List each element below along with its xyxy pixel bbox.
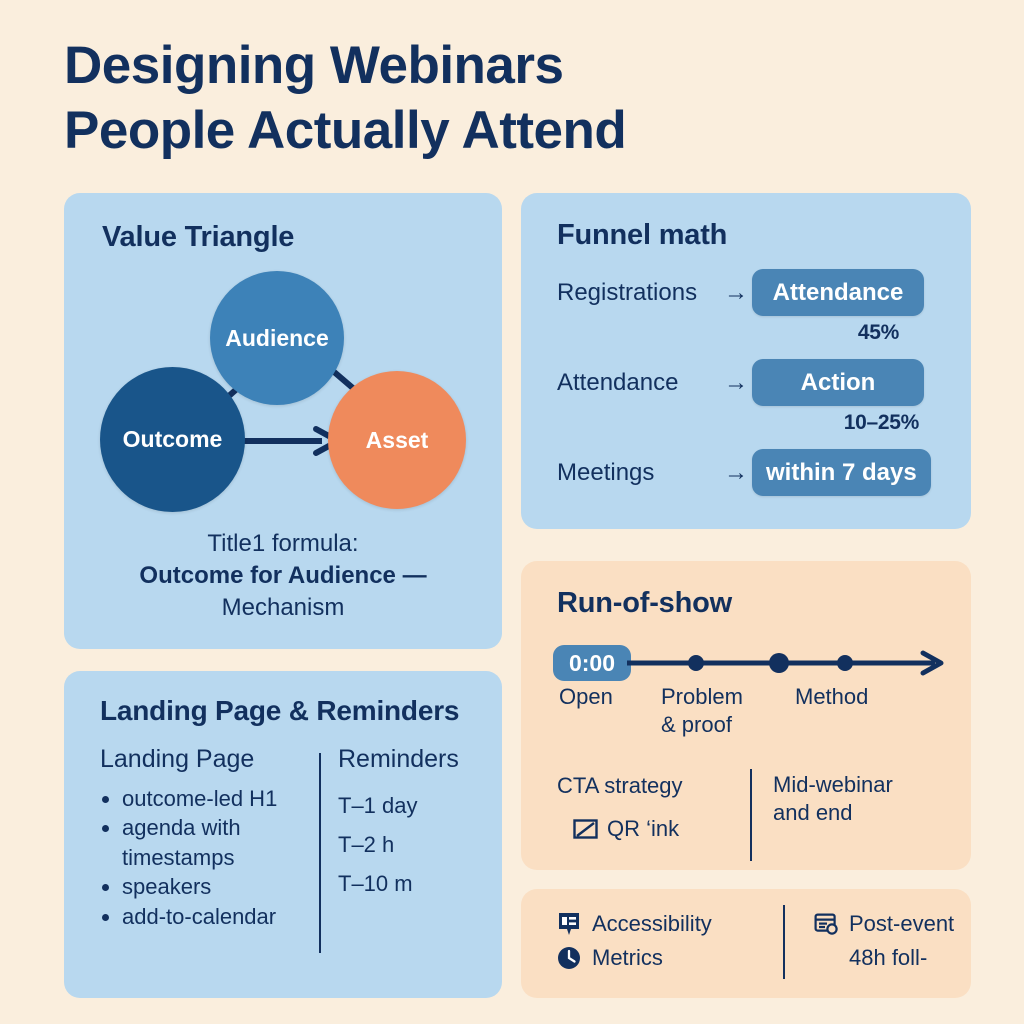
page-title: Designing Webinars People Actually Atten… [64,34,784,163]
funnel-rate: 10–25% [844,411,919,435]
timeline-dot [837,655,853,671]
funnel-math-panel: Funnel math Registrations → Attendance 4… [521,193,971,529]
document-clock-icon [814,912,838,936]
page-title-line-2: People Actually Attend [64,99,784,164]
landing-reminders-heading: Landing Page & Reminders [100,695,459,727]
cta-timing-line-2: and end [773,799,958,827]
landing-bullet-text: outcome-led H1 [122,786,277,811]
clock-icon [557,946,581,970]
timeline-dot [769,653,789,673]
timeline-dot [688,655,704,671]
landing-bullet-text: agenda with timestamps [122,815,241,869]
funnel-row-from: Attendance [557,369,678,397]
value-triangle-formula: Title1 formula: Outcome for Audience — M… [64,528,502,624]
cta-qr-link-item[interactable]: QR ‘ink [573,816,737,842]
cta-divider [750,769,752,861]
formula-line-2: Mechanism [222,594,345,621]
cta-timing-group: Mid-webinar and end [773,771,958,827]
reminders-column: Reminders T–1 day T–2 h T–10 m [338,745,488,903]
infographic-page: Designing Webinars People Actually Atten… [0,0,1024,1024]
run-of-show-stages: Open Problem & proof Method [521,683,971,763]
timeline-stage: Method [795,683,868,711]
page-title-line-1: Designing Webinars [64,34,784,99]
node-asset-label: Asset [366,427,429,454]
landing-bullet-text: add-to-calendar [122,904,276,929]
list-item: add-to-calendar [122,902,315,931]
timeline-stage: Open [559,683,613,711]
run-of-show-heading: Run-of-show [557,587,732,620]
timeline-stage-label: Problem [661,683,771,711]
timeline-stage-label: Method [795,683,868,711]
funnel-row-to[interactable]: Attendance [752,269,924,316]
arrow-right-icon: → [724,369,748,397]
reminders-column-heading: Reminders [338,745,488,774]
node-audience[interactable]: Audience [210,271,344,405]
cta-strategy-group: CTA strategy QR ‘ink [557,773,737,842]
list-item: outcome-led H1 [122,784,315,813]
footer-panel: Accessibility Metrics [521,889,971,998]
footer-item-label: Accessibility [592,911,712,937]
node-asset[interactable]: Asset [328,371,466,509]
funnel-row: Attendance → Action [521,359,971,415]
list-item: T–2 h [338,825,488,864]
run-of-show-panel: Run-of-show 0:00 Open Problem & proof Me… [521,561,971,870]
footer-item-label: 48h foll- [849,945,927,971]
node-outcome[interactable]: Outcome [100,367,245,512]
timeline-stage-label: Open [559,683,613,711]
list-item: speakers [122,872,315,901]
footer-right-group: Post-event 48h foll- [814,907,954,975]
footer-divider [783,905,785,979]
formula-line-1: Outcome for Audience — [64,560,502,592]
funnel-rows: Registrations → Attendance 45% Attendanc… [521,269,971,507]
footer-item-post-event[interactable]: Post-event [814,907,954,941]
run-of-show-cta-block: CTA strategy QR ‘ink Mid-webinar and end [521,773,971,863]
arrow-right-icon: → [724,459,748,487]
funnel-row-to[interactable]: within 7 days [752,449,931,496]
funnel-row-to[interactable]: Action [752,359,924,406]
cta-qr-link-label: QR ‘ink [607,816,679,842]
timeline-axis [627,643,951,683]
funnel-row-from: Meetings [557,459,654,487]
funnel-row: Meetings → within 7 days [521,449,971,505]
formula-label: Title1 formula: [207,530,358,557]
landing-reminders-panel: Landing Page & Reminders Landing Page ou… [64,671,502,998]
footer-item-metrics[interactable]: Metrics [557,941,712,975]
funnel-rate: 45% [858,321,899,345]
cta-strategy-label: CTA strategy [557,773,737,799]
caption-badge-icon [557,911,581,937]
timeline-start-chip[interactable]: 0:00 [553,645,631,681]
footer-left-group: Accessibility Metrics [557,907,712,975]
funnel-row-from: Registrations [557,279,697,307]
timeline-stage: Problem & proof [661,683,771,739]
funnel-row: Registrations → Attendance [521,269,971,325]
timeline-stage-label-2: & proof [661,711,771,739]
footer-item-followup: 48h foll- [814,941,954,975]
landing-column-divider [319,753,321,953]
landing-page-column: Landing Page outcome-led H1 agenda with … [100,745,315,931]
list-item: T–1 day [338,786,488,825]
node-outcome-label: Outcome [123,426,223,453]
value-triangle-diagram: Audience Outcome Asset [64,255,502,505]
value-triangle-panel: Value Triangle Audience Outcome Asset Ti… [64,193,502,649]
list-item: agenda with timestamps [122,813,315,872]
landing-bullet-text: speakers [122,874,211,899]
node-audience-label: Audience [225,325,329,352]
footer-item-accessibility[interactable]: Accessibility [557,907,712,941]
arrow-right-icon: → [724,279,748,307]
value-triangle-heading: Value Triangle [102,221,294,254]
run-of-show-timeline: 0:00 [521,643,971,683]
qr-link-icon [573,819,598,839]
funnel-math-heading: Funnel math [557,219,727,252]
cta-timing-line-1: Mid-webinar [773,771,958,799]
list-item: T–10 m [338,864,488,903]
landing-page-column-heading: Landing Page [100,745,315,774]
footer-item-label: Post-event [849,911,954,937]
footer-item-label: Metrics [592,945,663,971]
